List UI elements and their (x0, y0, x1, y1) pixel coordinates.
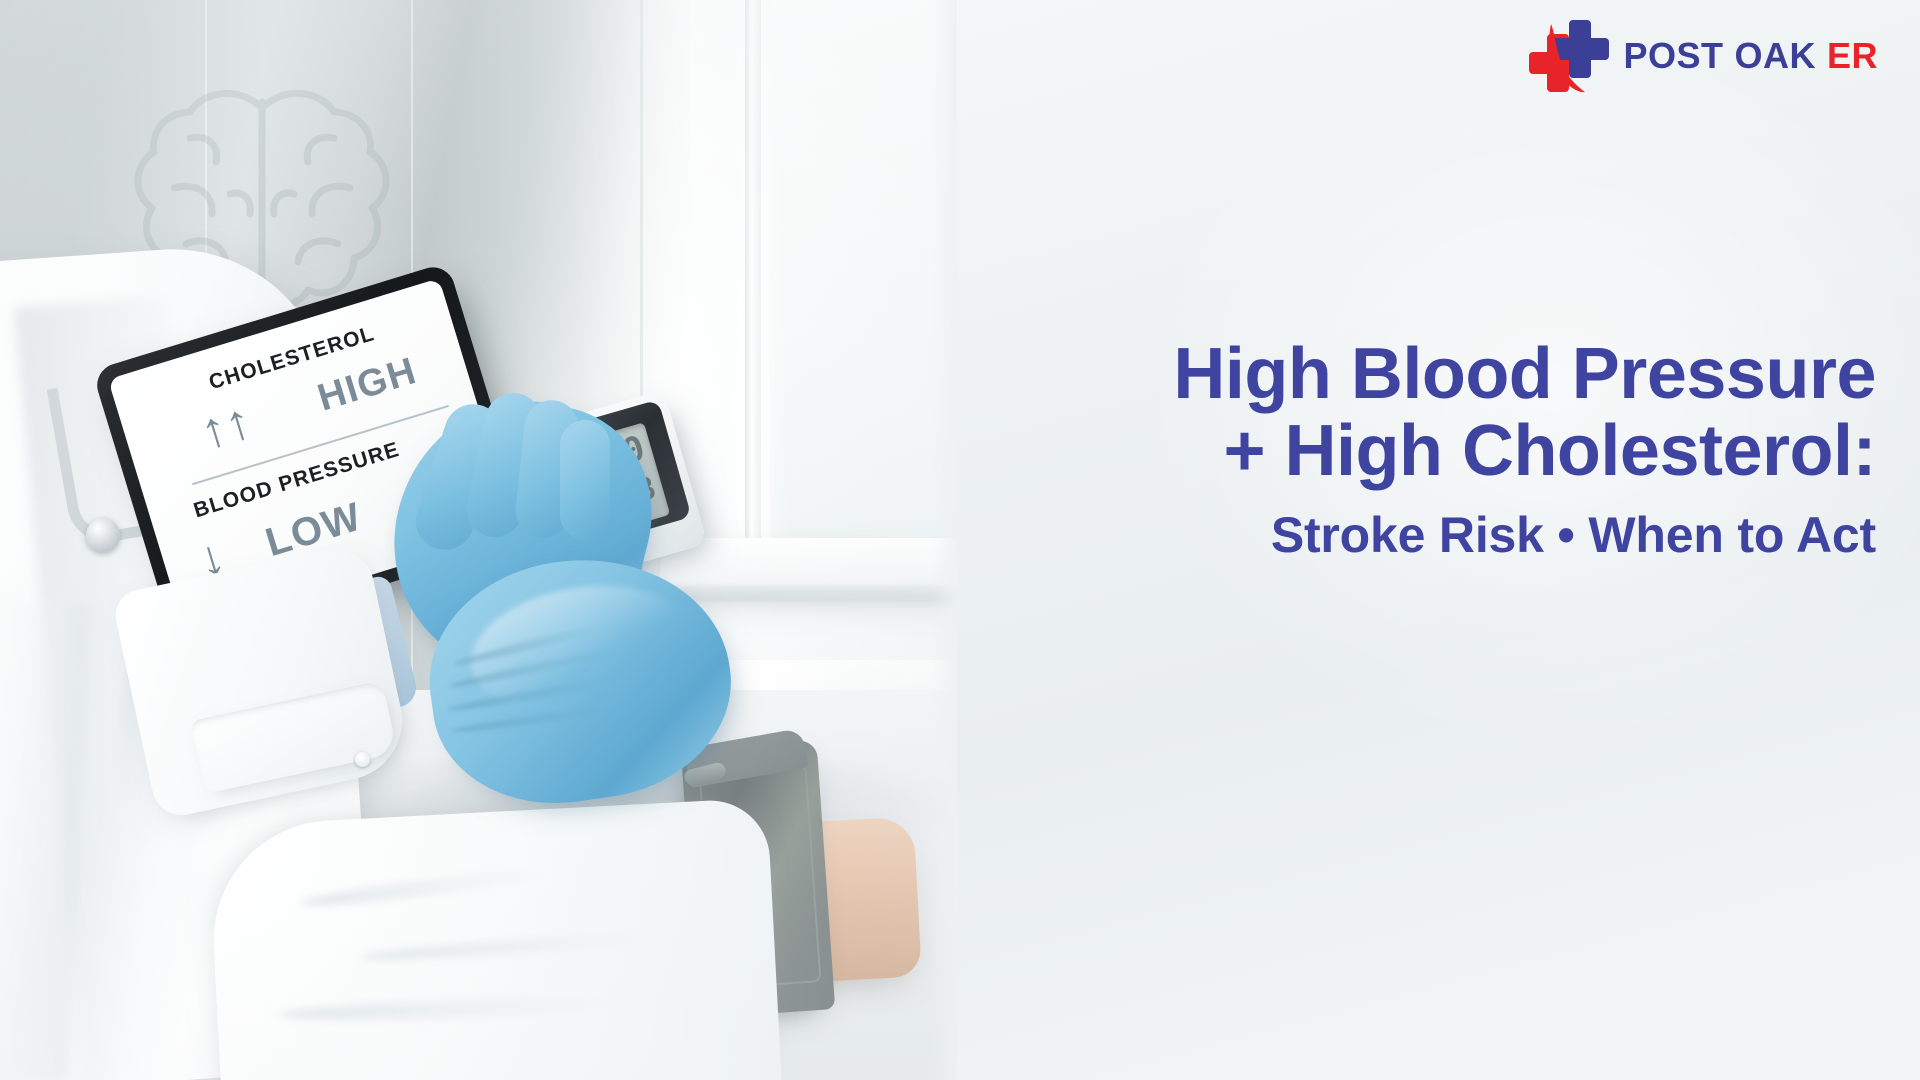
headline-line-1: High Blood Pressure (990, 336, 1876, 413)
stethoscope-bell-icon (86, 518, 120, 552)
content-panel: POST OAK ER High Blood Pressure + High C… (957, 0, 1920, 1080)
hero-banner: CHOLESTEROL ↑↑ HIGH BLOOD PRESSURE ↓ LOW… (0, 0, 1920, 1080)
medical-cross-swoosh-icon (1527, 18, 1609, 94)
brand-word-oak: OAK (1734, 35, 1816, 77)
hero-photo: CHOLESTEROL ↑↑ HIGH BLOOD PRESSURE ↓ LOW… (0, 0, 957, 1080)
brand-word-post: POST (1623, 35, 1723, 77)
brand-wordmark: POST OAK ER (1623, 35, 1878, 77)
brand-word-er: ER (1827, 35, 1878, 77)
brand-logo[interactable]: POST OAK ER (1527, 18, 1878, 94)
window-glass (770, 0, 957, 550)
headline-subtitle: Stroke Risk • When to Act (990, 508, 1876, 563)
shirt-button (355, 752, 370, 767)
headline-line-2: + High Cholesterol: (990, 413, 1876, 490)
arrow-up-icon: ↑↑ (195, 395, 257, 457)
window-frame (745, 0, 761, 600)
glove-finger (560, 420, 610, 540)
headline-block: High Blood Pressure + High Cholesterol: … (990, 336, 1876, 563)
tablet-row-value-cholesterol: HIGH (313, 350, 422, 421)
photo-edge-fade (931, 0, 957, 1080)
lab-coat-body (208, 798, 783, 1080)
